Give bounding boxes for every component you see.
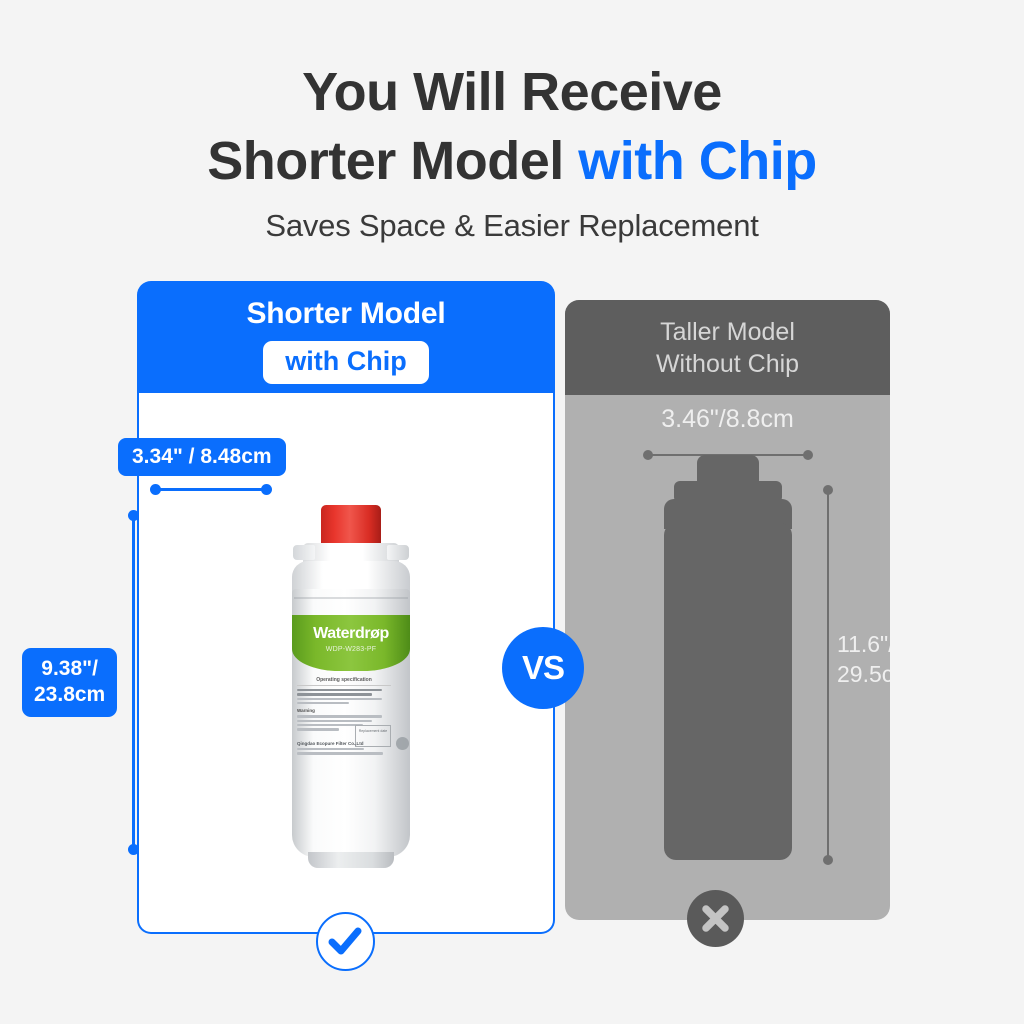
- shorter-height-line-2: 23.8cm: [34, 682, 105, 708]
- model-number: WDP-W283-PF: [292, 646, 410, 653]
- cartridge-tab-right: [387, 545, 409, 560]
- dimension-endpoint-dot: [823, 855, 833, 865]
- taller-model-card: Taller Model Without Chip 3.46"/8.8cm 11…: [565, 300, 890, 920]
- spec-line: [297, 702, 349, 704]
- footer-line: [297, 748, 364, 750]
- shorter-model-height-label: 9.38"/ 23.8cm: [22, 648, 117, 717]
- taller-height-line-1: 11.6"/: [837, 630, 890, 660]
- cartridge-green-label: Waterdrøp WDP-W283-PF: [292, 615, 410, 671]
- cartridge-spec-block: Operating specification Warning Replacem…: [297, 677, 391, 733]
- replacement-date-label: Replacement date: [356, 726, 390, 733]
- taller-model-height-label: 11.6"/ 29.5cm: [837, 630, 890, 690]
- page-title: You Will Receive Shorter Model with Chip: [0, 58, 1024, 196]
- spec-line: [297, 689, 382, 691]
- taller-filter-silhouette: [663, 455, 793, 860]
- cross-icon: [687, 890, 744, 947]
- company-name: Qingdao Ecopure Filter Co.,Ltd: [297, 741, 393, 746]
- taller-model-height-dimension-line: [823, 485, 833, 865]
- dimension-bar: [155, 488, 267, 491]
- spec-title: Operating specification: [297, 677, 391, 686]
- footer-line: [297, 752, 383, 754]
- headline-line-2-accent: with Chip: [578, 131, 816, 191]
- dimension-bar: [132, 515, 135, 850]
- shorter-model-width-dimension-line: [150, 484, 272, 495]
- warning-line: [297, 715, 382, 717]
- taller-model-width-label: 3.46"/8.8cm: [565, 405, 890, 434]
- cartridge-base: [308, 852, 394, 868]
- certification-mark-icon: [396, 737, 409, 750]
- taller-model-title-line-1: Taller Model: [565, 316, 890, 348]
- check-icon: [316, 912, 375, 971]
- shorter-height-line-1: 9.38"/: [34, 656, 105, 682]
- warning-line: [297, 720, 372, 722]
- dimension-endpoint-dot: [261, 484, 272, 495]
- silhouette-body: [664, 523, 792, 860]
- taller-height-line-2: 29.5cm: [837, 660, 890, 690]
- cartridge-tab-left: [293, 545, 315, 560]
- spec-lines: [297, 689, 391, 704]
- shorter-model-width-label: 3.34" / 8.48cm: [118, 438, 286, 476]
- warning-line: [297, 728, 339, 730]
- infographic-canvas: You Will Receive Shorter Model with Chip…: [0, 0, 1024, 1024]
- headline-line-2-plain: Shorter Model: [207, 131, 578, 191]
- warning-line: [297, 724, 363, 726]
- versus-badge: VS: [502, 627, 584, 709]
- spec-line: [297, 693, 372, 695]
- taller-model-title-line-2: Without Chip: [565, 348, 890, 380]
- brand-name: Waterdrøp: [292, 625, 410, 643]
- shorter-model-height-dimension-line: [128, 510, 139, 855]
- cartridge-seam: [294, 597, 408, 599]
- warning-title: Warning: [297, 708, 391, 713]
- dimension-endpoint-dot: [803, 450, 813, 460]
- silhouette-cap: [697, 455, 759, 483]
- page-subtitle: Saves Space & Easier Replacement: [0, 208, 1024, 244]
- water-filter-cartridge: Waterdrøp WDP-W283-PF Operating specific…: [285, 505, 417, 868]
- taller-model-card-header: Taller Model Without Chip: [565, 300, 890, 395]
- headline-line-2: Shorter Model with Chip: [0, 127, 1024, 196]
- dimension-endpoint-dot: [128, 844, 139, 855]
- shorter-model-visual-layer: Waterdrøp WDP-W283-PF Operating specific…: [137, 281, 555, 934]
- spec-line: [297, 698, 382, 700]
- headline-line-1: You Will Receive: [302, 62, 722, 122]
- cartridge-footer-block: Qingdao Ecopure Filter Co.,Ltd: [297, 741, 393, 757]
- dimension-bar: [827, 490, 829, 860]
